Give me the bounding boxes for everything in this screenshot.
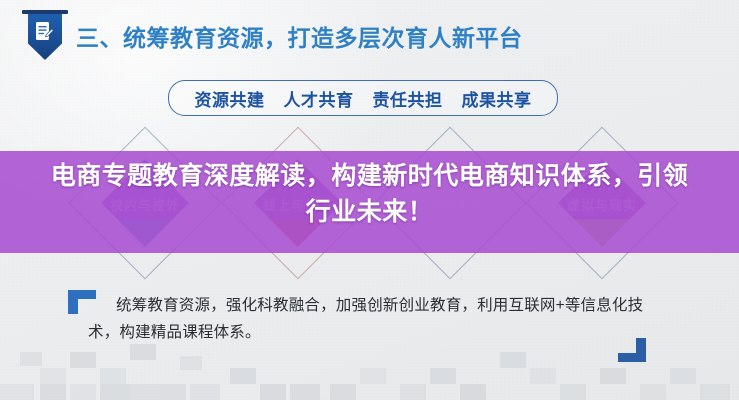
mosaic-cell	[190, 384, 220, 400]
mosaic-cell	[230, 368, 256, 384]
mosaic-cell	[670, 368, 696, 384]
mosaic-cell	[330, 384, 356, 400]
mosaic-cell	[400, 384, 426, 400]
mosaic-cell	[600, 368, 626, 384]
mosaic-cell	[180, 356, 202, 370]
mosaic-cell	[160, 384, 186, 400]
tag-pill-box: 资源共建人才共育责任共担成果共享	[168, 80, 558, 116]
slide-canvas: 校内与校外线上与线下实习与实践虚拟与现实 三、统筹教育资源，打造多层次育人新平台…	[0, 0, 739, 400]
mosaic-cell	[640, 384, 666, 400]
tag-item: 责任共担	[373, 86, 443, 111]
mosaic-cell	[700, 384, 730, 400]
tag-item: 资源共建	[195, 86, 265, 111]
mosaic-cell	[430, 368, 456, 384]
body-paragraph-text: 统筹教育资源，强化科教融合，加强创新创业教育，利用互联网+等信息化技术，构建精品…	[88, 297, 643, 341]
body-paragraph: 统筹教育资源，强化科教融合，加强创新创业教育，利用互联网+等信息化技术，构建精品…	[88, 292, 668, 346]
mosaic-cell	[100, 384, 130, 400]
mosaic-cell	[460, 384, 486, 400]
mosaic-cell	[560, 384, 586, 400]
mosaic-cell	[70, 352, 96, 368]
mosaic-cell	[20, 352, 42, 366]
overlay-headline-line-1: 电商专题教育深度解读，构建新时代电商知识体	[51, 162, 587, 190]
mosaic-cell	[130, 344, 156, 360]
mosaic-cell	[360, 368, 386, 384]
pennant-bar	[22, 10, 68, 14]
pennant-document-icon	[22, 10, 68, 62]
mosaic-cell	[290, 384, 320, 400]
mosaic-cell	[40, 384, 66, 400]
page-title: 三、统筹教育资源，打造多层次育人新平台	[76, 19, 523, 53]
mosaic-cell	[260, 384, 286, 400]
tag-item: 成果共享	[462, 86, 532, 111]
tag-item: 人才共育	[284, 86, 354, 111]
mosaic-cell	[70, 384, 96, 400]
mosaic-cell	[100, 368, 126, 384]
overlay-headline: 电商专题教育深度解读，构建新时代电商知识体系，引领行业未来！	[0, 158, 739, 230]
mosaic-cell	[40, 368, 66, 384]
mosaic-cell	[130, 384, 160, 400]
mosaic-cell	[500, 352, 526, 368]
mosaic-cell	[0, 384, 34, 400]
header: 三、统筹教育资源，打造多层次育人新平台	[0, 0, 739, 62]
mosaic-cell	[530, 368, 556, 384]
document-pen-icon	[35, 21, 54, 42]
